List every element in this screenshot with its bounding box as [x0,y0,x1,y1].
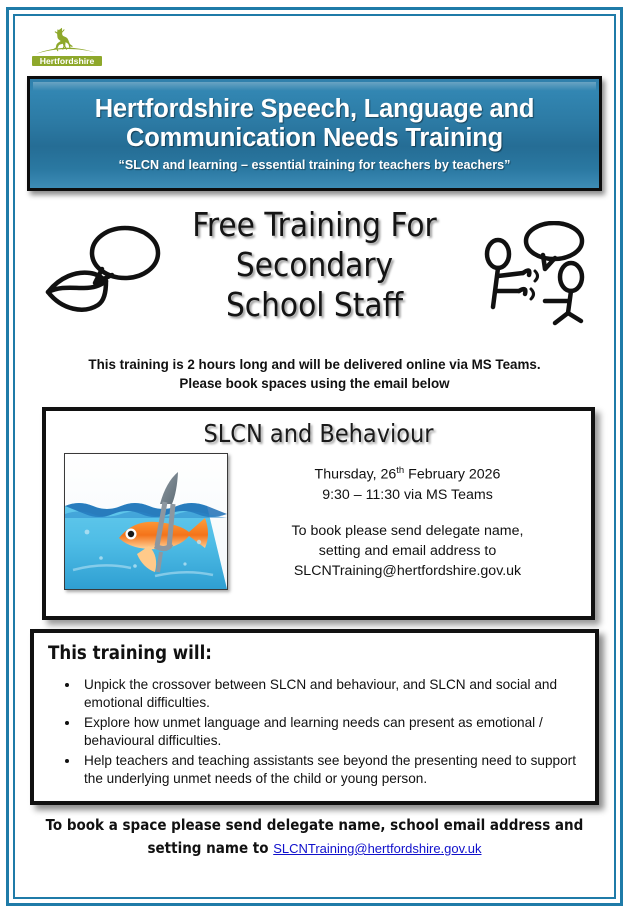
two-people-talking-icon [471,221,601,331]
training-outcomes-list: Unpick the crossover between SLCN and be… [48,676,581,788]
footer-booking-text: To book a space please send delegate nam… [32,814,597,860]
list-item: Help teachers and teaching assistants se… [80,752,581,788]
footer-email-link[interactable]: SLCNTraining@hertfordshire.gov.uk [273,841,481,856]
list-item: Explore how unmet language and learning … [80,714,581,750]
course-booking-email: SLCNTraining@hertfordshire.gov.uk [294,563,521,579]
hertfordshire-logo: Hertfordshire [28,23,106,71]
course-title: SLCN and Behaviour [46,419,591,449]
goldfish-with-shark-fin-photo [64,453,228,590]
course-date-suffix: February 2026 [404,467,500,483]
flyer-page: Hertfordshire Hertfordshire Speech, Lang… [0,0,629,916]
training-outcomes-box: This training will: Unpick the crossover… [30,629,599,805]
course-time: 9:30 – 11:30 via MS Teams [322,487,493,503]
banner-title-line1: Hertfordshire Speech, Language and [95,95,535,124]
footer-line2: setting name to SLCNTraining@hertfordshi… [32,837,597,860]
footer-line1: To book a space please send delegate nam… [32,814,597,837]
delivery-note: This training is 2 hours long and will b… [30,355,599,393]
delivery-note-line2: Please book spaces using the email below [30,374,599,393]
logo-wordmark: Hertfordshire [40,56,95,66]
list-item: Unpick the crossover between SLCN and be… [80,676,581,712]
banner-title-line2: Communication Needs Training [95,124,535,153]
course-body: Thursday, 26th February 2026 9:30 – 11:3… [46,453,591,590]
flyer-content: Hertfordshire Hertfordshire Speech, Lang… [18,19,611,894]
delivery-note-line1: This training is 2 hours long and will b… [30,355,599,374]
course-text: Thursday, 26th February 2026 9:30 – 11:3… [228,453,591,581]
banner-title: Hertfordshire Speech, Language and Commu… [87,95,543,152]
header-banner: Hertfordshire Speech, Language and Commu… [27,76,602,191]
course-schedule: Thursday, 26th February 2026 9:30 – 11:3… [234,461,581,505]
course-date-prefix: Thursday, 26 [315,467,397,483]
course-booking-line1: To book please send delegate name, [292,523,524,539]
training-outcomes-title: This training will: [48,643,581,664]
course-booking-line2: setting and email address to [319,543,496,559]
course-booking-info: To book please send delegate name, setti… [234,521,581,581]
course-details-box: SLCN and Behaviour [42,407,595,620]
banner-subtitle: “SLCN and learning – essential training … [119,158,511,172]
hero-section: Free Training For Secondary School Staff [18,199,611,359]
footer-line2-prefix: setting name to [147,839,273,857]
